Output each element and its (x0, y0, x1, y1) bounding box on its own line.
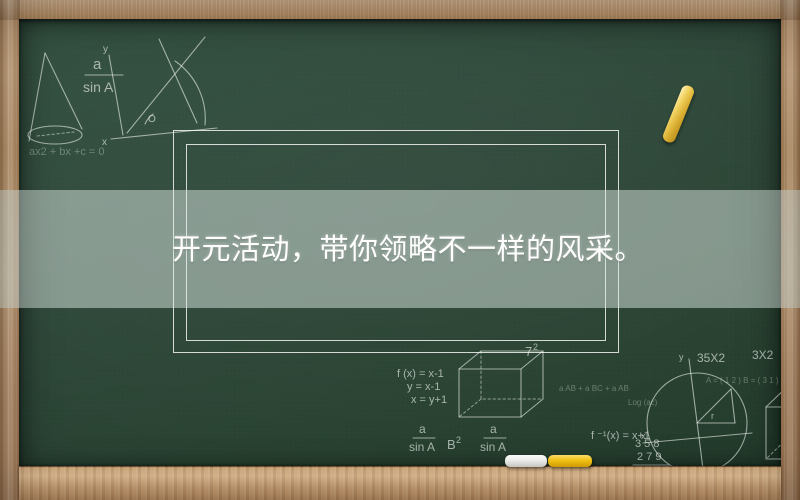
chalk-ledge (19, 466, 781, 500)
headline-container: 开元活动，带你领略不一样的风采。 (0, 190, 800, 308)
radius-label: r (711, 411, 714, 421)
chalk-stick-white (505, 455, 547, 467)
cube-drawing-right (766, 383, 781, 459)
label-35x2: 35X2 (697, 351, 725, 365)
chalkboard-banner: a sin A ax2 + bx +c = 0 y x O (0, 0, 800, 500)
chalk-stick-yellow (548, 455, 592, 467)
label-3x2: 3X2 (752, 348, 774, 362)
sum-row-2: 2 7 9 (637, 451, 661, 463)
frame-top-shading (0, 0, 800, 20)
svg-text:y: y (679, 352, 684, 362)
headline-text: 开元活动，带你领略不一样的风采。 (172, 232, 644, 267)
sum-row-1: 3 5 8 (635, 438, 659, 450)
